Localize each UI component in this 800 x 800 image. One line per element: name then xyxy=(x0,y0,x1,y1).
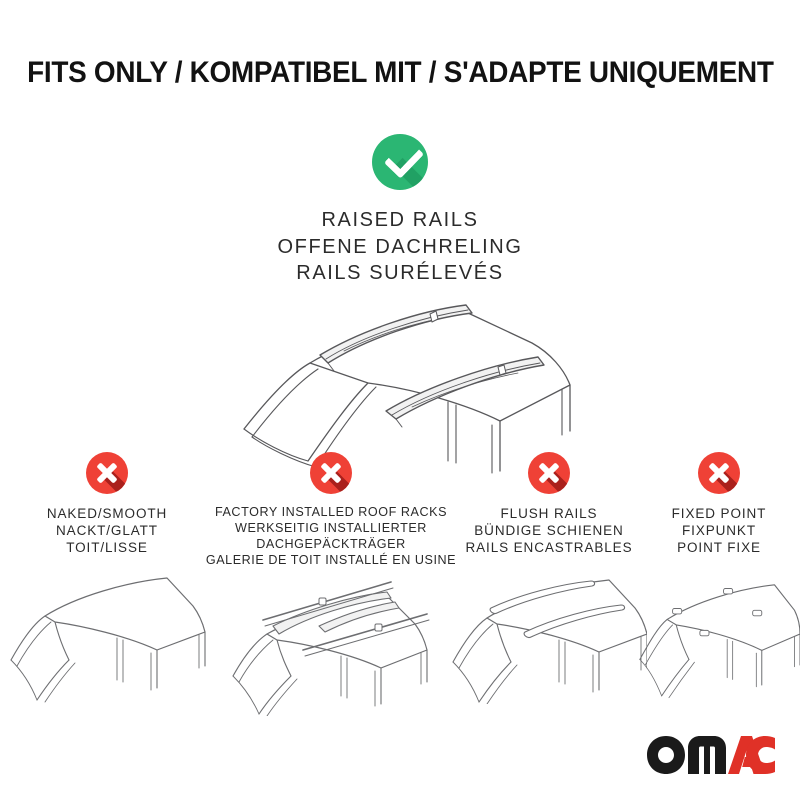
factory-roof-racks-label-de-1: WERKSEITIG INSTALLIERTER xyxy=(204,521,458,537)
compatible-label-fr: RAILS SURÉLEVÉS xyxy=(0,260,800,287)
fixed-point-labels: FIXED POINT FIXPUNKT POINT FIXE xyxy=(638,505,800,556)
incompatible-item-flush-rails: FLUSH RAILS BÜNDIGE SCHIENEN RAILS ENCAS… xyxy=(450,452,648,704)
compatible-label-en: RAISED RAILS xyxy=(0,207,800,234)
x-circle-icon xyxy=(86,452,128,494)
factory-roof-racks-illustration xyxy=(204,576,458,716)
omac-logo-icon xyxy=(646,734,776,776)
naked-smooth-label-en: NAKED/SMOOTH xyxy=(0,505,214,522)
factory-roof-racks-label-de-2: DACHGEPÄCKTRÄGER xyxy=(204,537,458,553)
fixed-point-label-de: FIXPUNKT xyxy=(638,522,800,539)
fixed-point-label-fr: POINT FIXE xyxy=(638,539,800,556)
page-title-bar: FITS ONLY / KOMPATIBEL MIT / S'ADAPTE UN… xyxy=(0,48,800,98)
factory-roof-racks-label-fr: GALERIE DE TOIT INSTALLÉ EN USINE xyxy=(204,553,458,569)
flush-rails-label-fr: RAILS ENCASTRABLES xyxy=(450,539,648,556)
check-circle-icon xyxy=(372,134,428,190)
compatible-labels: RAISED RAILS OFFENE DACHRELING RAILS SUR… xyxy=(0,207,800,287)
incompatible-item-naked-smooth: NAKED/SMOOTH NACKT/GLATT TOIT/LISSE xyxy=(0,452,214,704)
x-circle-icon xyxy=(310,452,352,494)
omac-logo xyxy=(646,734,776,776)
flush-rails-labels: FLUSH RAILS BÜNDIGE SCHIENEN RAILS ENCAS… xyxy=(450,505,648,556)
raised-rails-illustration xyxy=(0,301,800,476)
compatible-label-de: OFFENE DACHRELING xyxy=(0,234,800,261)
naked-smooth-label-de: NACKT/GLATT xyxy=(0,522,214,539)
incompatible-section: NAKED/SMOOTH NACKT/GLATT TOIT/LISSE xyxy=(0,452,800,702)
x-circle-icon xyxy=(698,452,740,494)
fixed-point-illustration xyxy=(638,564,800,704)
factory-roof-racks-label-en: FACTORY INSTALLED ROOF RACKS xyxy=(204,505,458,521)
compatible-section: RAISED RAILS OFFENE DACHRELING RAILS SUR… xyxy=(0,134,800,476)
fixed-point-label-en: FIXED POINT xyxy=(638,505,800,522)
naked-smooth-label-fr: TOIT/LISSE xyxy=(0,539,214,556)
flush-rails-illustration xyxy=(450,564,648,704)
naked-smooth-illustration xyxy=(0,564,214,704)
incompatible-item-fixed-point: FIXED POINT FIXPUNKT POINT FIXE xyxy=(638,452,800,704)
page-title: FITS ONLY / KOMPATIBEL MIT / S'ADAPTE UN… xyxy=(27,56,774,90)
flush-rails-label-en: FLUSH RAILS xyxy=(450,505,648,522)
factory-roof-racks-labels: FACTORY INSTALLED ROOF RACKS WERKSEITIG … xyxy=(204,505,458,568)
naked-smooth-labels: NAKED/SMOOTH NACKT/GLATT TOIT/LISSE xyxy=(0,505,214,556)
x-circle-icon xyxy=(528,452,570,494)
incompatible-item-factory-roof-racks: FACTORY INSTALLED ROOF RACKS WERKSEITIG … xyxy=(204,452,458,716)
flush-rails-label-de: BÜNDIGE SCHIENEN xyxy=(450,522,648,539)
